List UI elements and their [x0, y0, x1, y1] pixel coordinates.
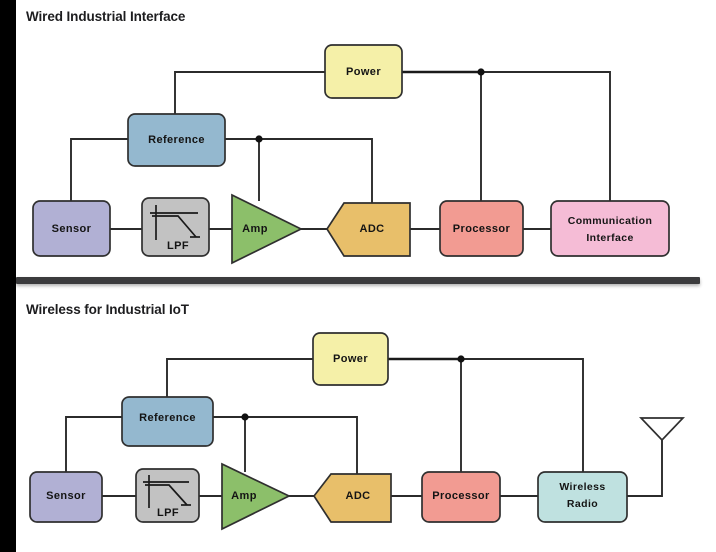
junction-dot-reference — [241, 413, 248, 420]
block-processor-label: Processor — [453, 223, 511, 235]
block-sensor-label: Sensor — [52, 223, 92, 235]
block-wireless-radio-label-line1: Wireless — [559, 481, 605, 493]
block-adc-label: ADC — [345, 490, 370, 502]
panel-wired-industrial-interface: Wired Industrial Interface Power — [0, 0, 716, 288]
block-amp[interactable]: Amp — [232, 195, 301, 263]
wire-reference-to-adc — [245, 417, 357, 474]
wire-power-to-reference — [167, 359, 313, 397]
left-black-strip — [0, 0, 16, 552]
block-reference[interactable]: Reference — [122, 397, 213, 446]
junction-dot-power — [477, 68, 484, 75]
block-amp-label: Amp — [242, 223, 268, 235]
block-reference[interactable]: Reference — [128, 114, 225, 166]
wire-reference-to-adc — [259, 139, 372, 203]
block-wireless-radio-label-line2: Radio — [567, 498, 598, 510]
panel-divider — [16, 277, 700, 284]
wire-junction-to-comm — [481, 72, 610, 201]
block-communication-interface-label-line1: Communication — [568, 215, 653, 227]
panel-wireless-industrial-iot: Wireless for Industrial IoT Power — [0, 288, 716, 552]
block-processor[interactable]: Processor — [440, 201, 523, 256]
block-lpf-label: LPF — [157, 507, 179, 519]
antenna-triangle — [641, 418, 683, 440]
block-communication-interface-body — [551, 201, 669, 256]
block-adc[interactable]: ADC — [314, 474, 391, 522]
block-sensor[interactable]: Sensor — [33, 201, 110, 256]
block-wireless-radio[interactable]: Wireless Radio — [538, 472, 627, 522]
wireless-block-diagram: Power Reference Sensor LPF Amp — [0, 288, 716, 552]
block-processor[interactable]: Processor — [422, 472, 500, 522]
block-lpf-label: LPF — [167, 240, 189, 252]
block-adc[interactable]: ADC — [327, 203, 410, 256]
junction-dot-power — [457, 355, 464, 362]
junction-dot-reference — [255, 135, 262, 142]
block-reference-label: Reference — [139, 412, 196, 424]
block-power[interactable]: Power — [313, 333, 388, 385]
wired-block-diagram: Power Reference Sensor LPF Amp — [0, 0, 716, 288]
block-power[interactable]: Power — [325, 45, 402, 98]
block-reference-label: Reference — [148, 134, 205, 146]
block-lpf[interactable]: LPF — [142, 198, 209, 256]
wire-reference-to-sensor — [66, 417, 122, 472]
wire-junction-to-radio — [461, 359, 583, 472]
block-amp[interactable]: Amp — [222, 464, 289, 529]
block-adc-label: ADC — [359, 223, 384, 235]
block-communication-interface[interactable]: Communication Interface — [551, 201, 669, 256]
block-amp-label: Amp — [231, 490, 257, 502]
wire-reference-to-sensor — [71, 139, 128, 201]
block-power-label: Power — [333, 353, 368, 365]
wire-radio-to-antenna — [627, 434, 662, 496]
block-power-label: Power — [346, 66, 381, 78]
block-sensor-label: Sensor — [46, 490, 86, 502]
block-lpf[interactable]: LPF — [136, 469, 199, 522]
wire-power-to-reference — [175, 72, 325, 114]
antenna-icon[interactable] — [641, 418, 683, 440]
block-processor-label: Processor — [432, 490, 490, 502]
block-sensor[interactable]: Sensor — [30, 472, 102, 522]
block-communication-interface-label-line2: Interface — [586, 232, 633, 244]
